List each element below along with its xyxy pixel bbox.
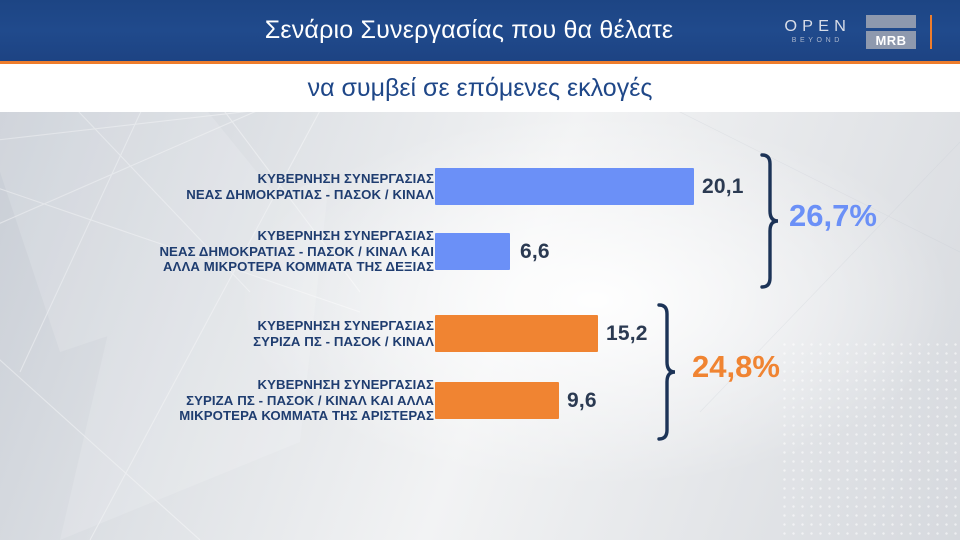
- chart-row-3: ΚΥΒΕΡΝΗΣΗ ΣΥΝΕΡΓΑΣΙΑΣ ΣΥΡΙΖΑ ΠΣ - ΠΑΣΟΚ …: [0, 315, 960, 352]
- logo-divider: [930, 15, 932, 49]
- poll-graphic: Σενάριο Συνεργασίας που θα θέλατε OPEN B…: [0, 0, 960, 540]
- beyond-logo-text: BEYOND: [792, 36, 843, 46]
- subtitle-band: να συμβεί σε επόμενες εκλογές: [0, 64, 960, 112]
- group-bracket-orange: [653, 302, 679, 442]
- bar-label-4: ΚΥΒΕΡΝΗΣΗ ΣΥΝΕΡΓΑΣΙΑΣ ΣΥΡΙΖΑ ΠΣ - ΠΑΣΟΚ …: [14, 377, 434, 424]
- chart-row-4: ΚΥΒΕΡΝΗΣΗ ΣΥΝΕΡΓΑΣΙΑΣ ΣΥΡΙΖΑ ΠΣ - ΠΑΣΟΚ …: [0, 382, 960, 419]
- bar-value-2: 6,6: [520, 240, 550, 264]
- bar-label-2: ΚΥΒΕΡΝΗΣΗ ΣΥΝΕΡΓΑΣΙΑΣ ΝΕΑΣ ΔΗΜΟΚΡΑΤΙΑΣ -…: [14, 228, 434, 275]
- mrb-logo-bar: [866, 15, 916, 28]
- group-total-blue: 26,7%: [789, 198, 877, 234]
- bar-3: [435, 315, 598, 352]
- group-bracket-blue: [756, 152, 782, 290]
- bar-4: [435, 382, 559, 419]
- bar-1: [435, 168, 694, 205]
- page-title-line1: Σενάριο Συνεργασίας που θα θέλατε: [265, 16, 674, 45]
- chart-area: ΚΥΒΕΡΝΗΣΗ ΣΥΝΕΡΓΑΣΙΑΣ ΝΕΑΣ ΔΗΜΟΚΡΑΤΙΑΣ -…: [0, 112, 960, 540]
- bar-2: [435, 233, 510, 270]
- chart-row-2: ΚΥΒΕΡΝΗΣΗ ΣΥΝΕΡΓΑΣΙΑΣ ΝΕΑΣ ΔΗΜΟΚΡΑΤΙΑΣ -…: [0, 233, 960, 270]
- mrb-logo: MRB: [866, 15, 916, 49]
- background-dot-pattern: [780, 340, 960, 540]
- bar-label-1: ΚΥΒΕΡΝΗΣΗ ΣΥΝΕΡΓΑΣΙΑΣ ΝΕΑΣ ΔΗΜΟΚΡΑΤΙΑΣ -…: [14, 171, 434, 202]
- bar-value-4: 9,6: [567, 389, 597, 413]
- mrb-logo-text: MRB: [866, 31, 916, 49]
- logo-group: OPEN BEYOND MRB: [785, 14, 932, 50]
- bar-label-3: ΚΥΒΕΡΝΗΣΗ ΣΥΝΕΡΓΑΣΙΑΣ ΣΥΡΙΖΑ ΠΣ - ΠΑΣΟΚ …: [14, 318, 434, 349]
- bar-value-3: 15,2: [606, 322, 648, 346]
- header-bar: Σενάριο Συνεργασίας που θα θέλατε OPEN B…: [0, 0, 960, 61]
- page-title-line2: να συμβεί σε επόμενες εκλογές: [308, 74, 653, 103]
- bar-value-1: 20,1: [702, 175, 744, 199]
- open-beyond-logo: OPEN BEYOND: [785, 18, 850, 46]
- open-logo-text: OPEN: [784, 18, 851, 35]
- group-total-orange: 24,8%: [692, 349, 780, 385]
